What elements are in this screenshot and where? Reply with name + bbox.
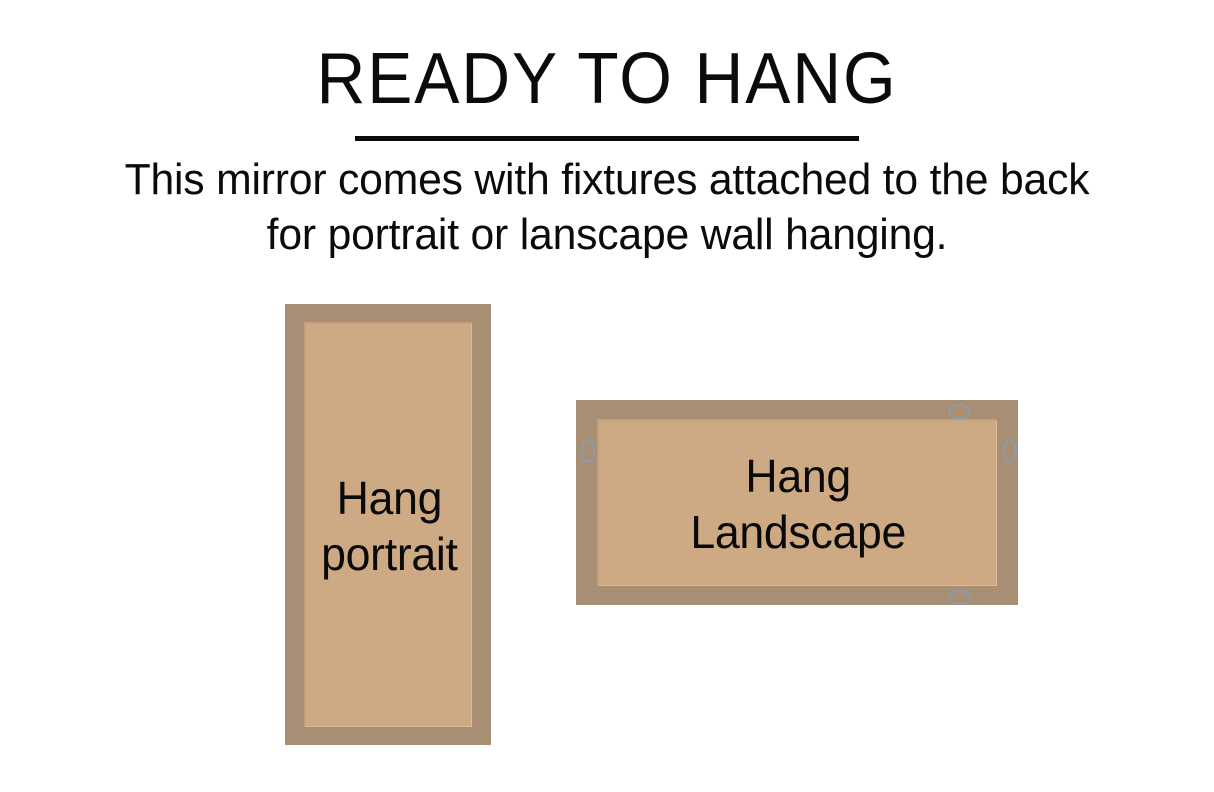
mirror-frame-portrait: Hang portrait [285,304,491,745]
hanging-fixture-top-icon [948,404,971,419]
mirror-frame-landscape: Hang Landscape [576,400,1018,605]
mirror-label-portrait: Hang portrait [321,470,458,582]
hanging-fixture-right-icon [1003,439,1017,463]
hanging-fixture-left-icon [581,439,595,463]
title-block: READY TO HANG [0,40,1214,141]
infographic-canvas: READY TO HANG This mirror comes with fix… [0,0,1214,792]
mirror-panel-landscape: Hang Landscape [597,419,997,586]
mirror-label-landscape: Hang Landscape [690,448,906,560]
hanging-fixture-bottom-icon [948,590,971,605]
page-subtitle: This mirror comes with fixtures attached… [122,152,1092,262]
title-underline-rule [355,136,859,141]
page-title: READY TO HANG [36,40,1177,118]
mirror-panel-portrait: Hang portrait [304,322,472,727]
